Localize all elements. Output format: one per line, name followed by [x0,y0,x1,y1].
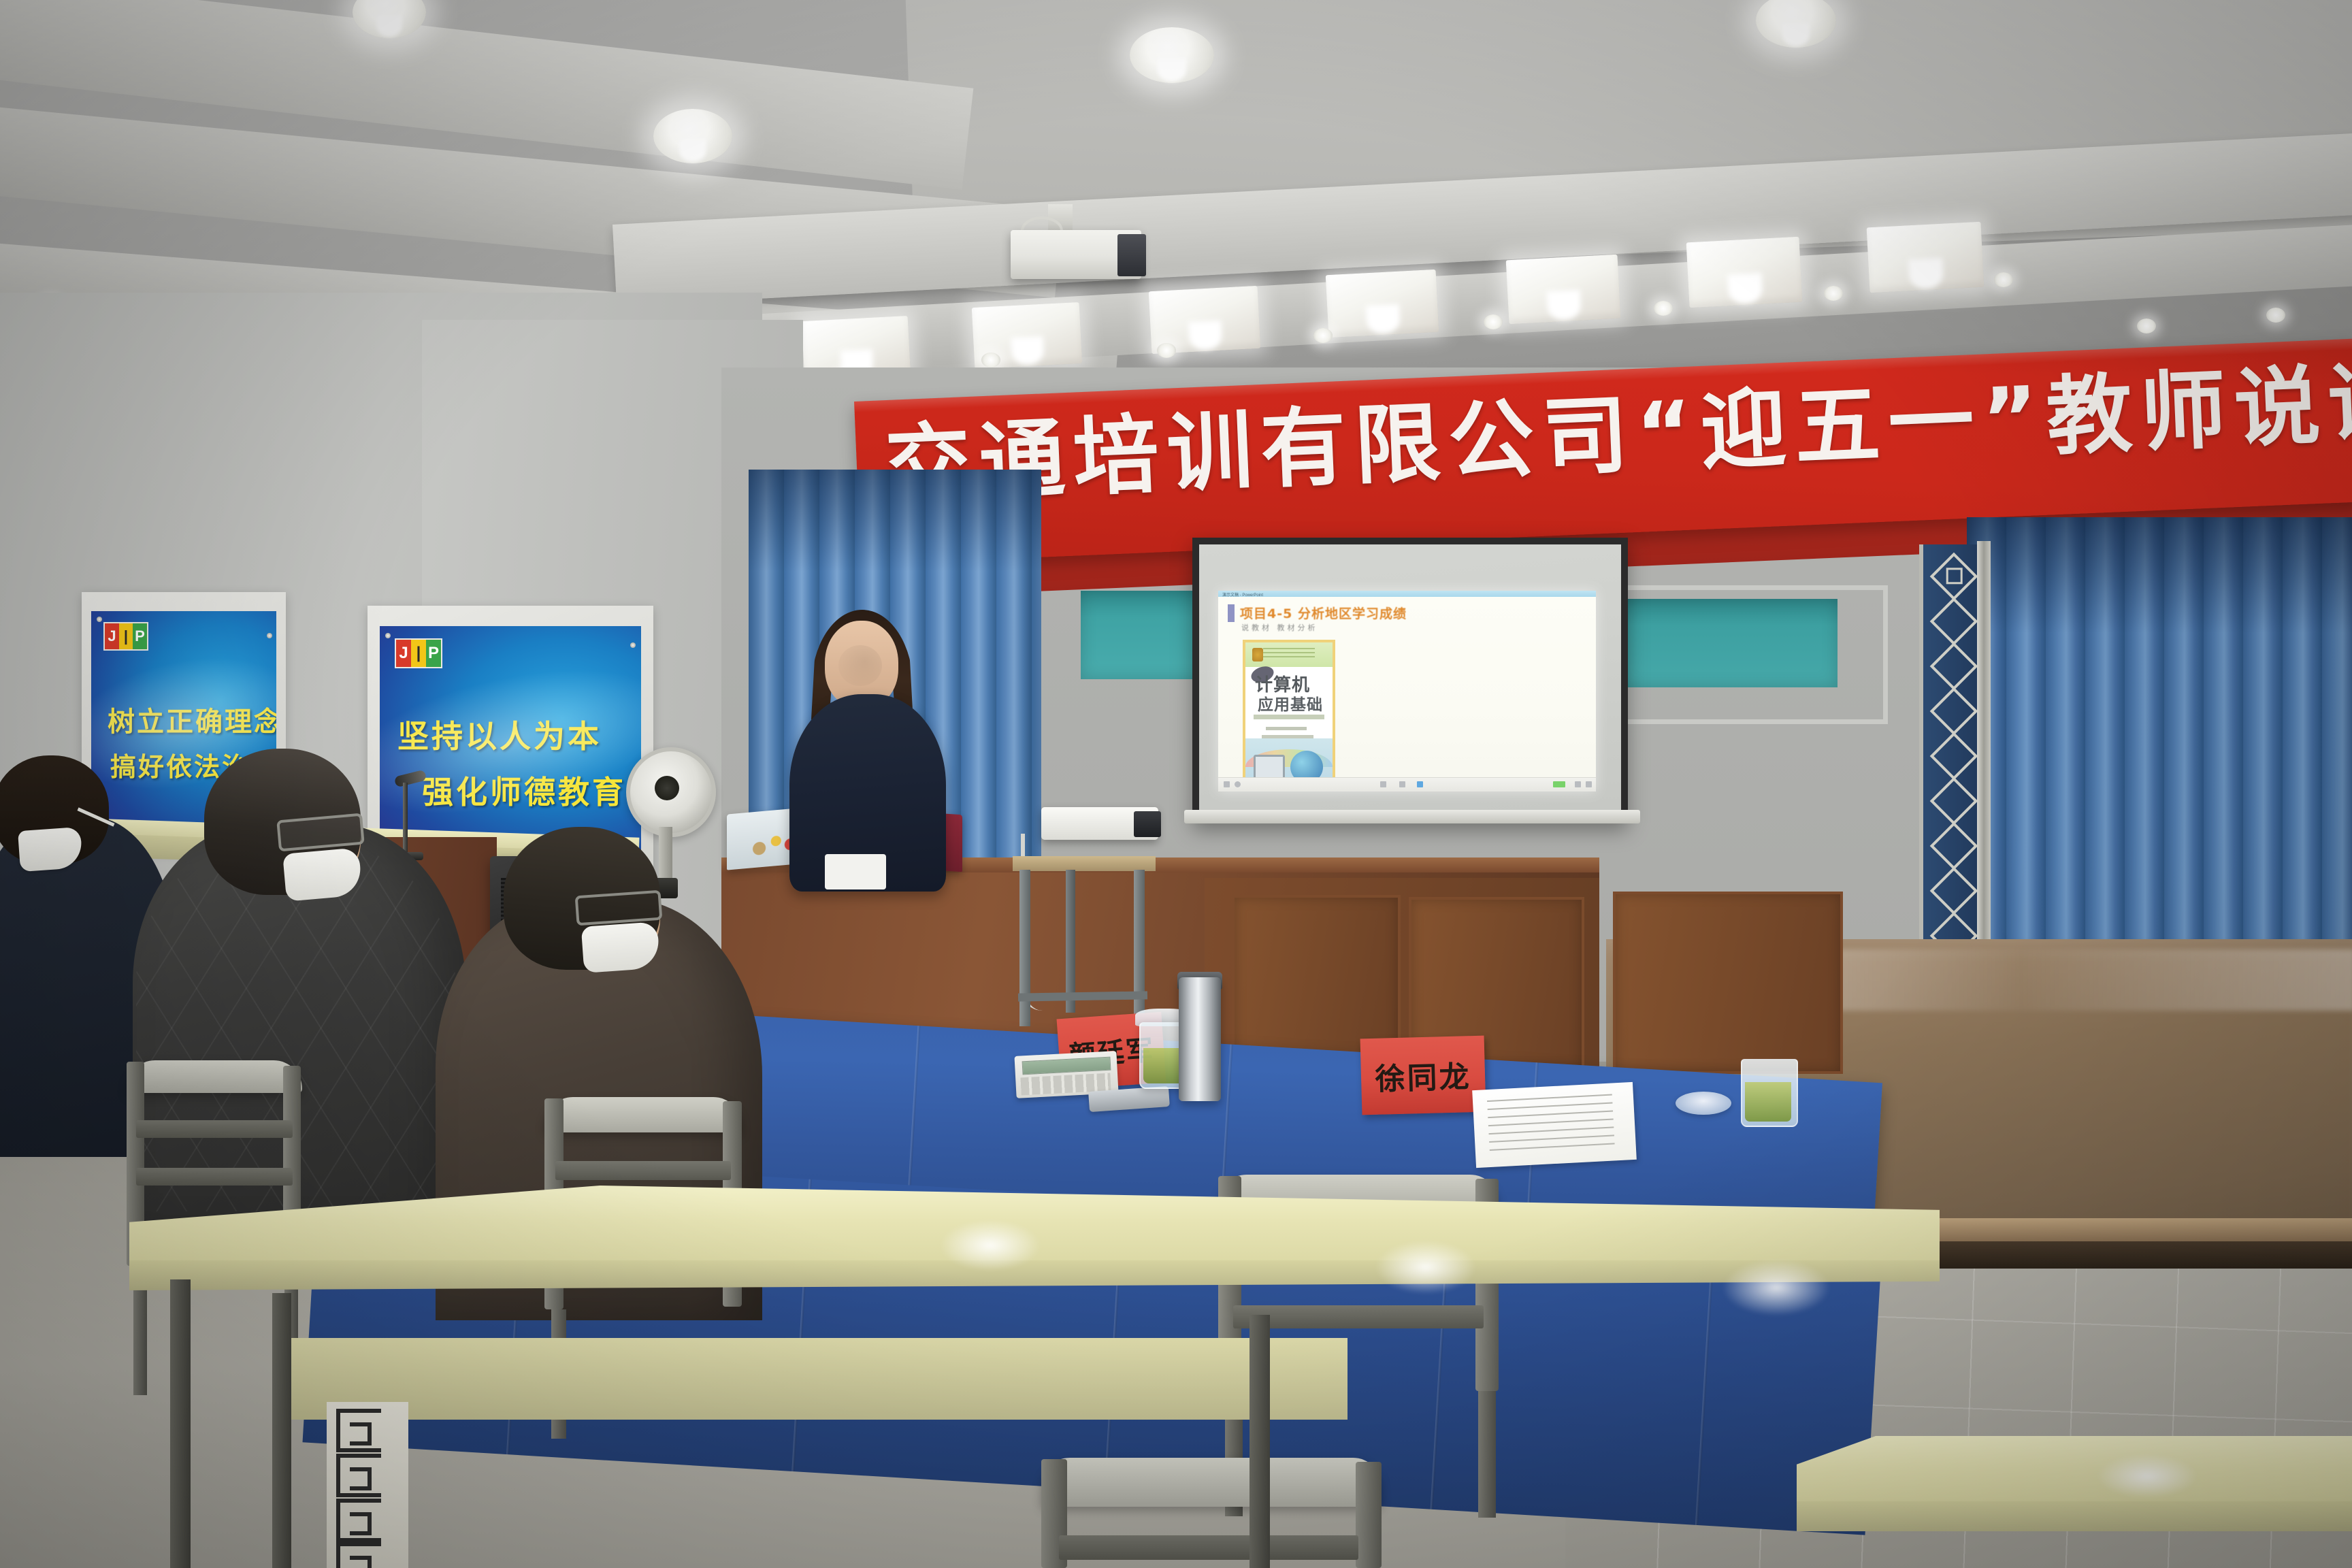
projection-screen-rail [1184,810,1640,823]
wall-sign-2-panel: J | P 坚持以人为本 强化师德教育 [380,626,641,857]
downlight [1994,272,2013,287]
book-title-line2: 应用基础 [1258,691,1323,715]
thermos-flask [1179,977,1221,1101]
box-light [1506,255,1621,324]
jp-logo-icon: J | P [103,622,148,651]
chalkboard-panel-right [1620,599,1837,687]
downlight [1157,343,1176,358]
book-header-band [1245,642,1333,667]
downlight [2266,308,2285,323]
stool-leg [1019,870,1030,1026]
scoring-sheet[interactable] [1472,1082,1637,1168]
desk-highlight [1375,1240,1477,1294]
dome-light [1130,27,1214,83]
fan-hub-icon [655,776,679,800]
tea-leaves [1745,1082,1791,1122]
presenter-face [838,645,882,686]
stage-wood-panel [1613,892,1843,1074]
projector-lens-icon [1134,811,1161,837]
slide-taskbar [1218,777,1596,791]
box-light [1326,269,1439,338]
box-light [1686,237,1803,308]
wall-sign-1-line1: 树立正确理念 [108,700,276,739]
downlight [981,353,1000,367]
desk-highlight [2096,1454,2198,1499]
slide-subtitle: 说教材 教材分析 [1241,622,1318,633]
fan-neck [659,827,672,881]
book-seal-icon [1252,648,1263,661]
curtain-shadow [749,470,1041,572]
curtain-shadow [1967,517,2352,633]
name-card-2-text: 徐同龙 [1375,1052,1472,1098]
desk-highlight [1722,1259,1831,1316]
slide-window-title: 演示文稿 - PowerPoint [1222,591,1263,598]
wall-sign-2-line1: 坚持以人为本 [397,712,602,757]
downlight [1824,286,1843,301]
slide-title: 项目4-5 分析地区学习成绩 [1240,604,1407,622]
desk-leg [170,1279,191,1568]
book-author-line [1266,727,1307,730]
projector-lens-icon [1117,234,1146,276]
microphone-stand [403,783,408,857]
desk-decorative-panel [327,1402,408,1568]
projected-slide: 演示文稿 - PowerPoint 项目4-5 分析地区学习成绩 说教材 教材分… [1218,591,1596,791]
downlight [1654,301,1673,316]
desk-leg [272,1293,291,1568]
projector-stool-top [1013,856,1156,871]
stool-leg [1066,870,1075,1013]
stool-leg [1134,870,1145,1024]
student-desk-edge [1797,1501,2352,1531]
jp-logo-icon: J | P [395,638,442,668]
wall-sign-2-line2: 强化师德教育 [422,768,626,813]
lattice-post [1977,541,1991,1004]
student-desk-top [1797,1436,2352,1511]
downlight [1484,314,1503,329]
presenter-shirt [825,854,886,889]
desk-highlight [939,1220,1041,1271]
book-subtitle-bar [1254,715,1324,719]
glass-ashtray [1676,1092,1731,1115]
name-card-2: 徐同龙 [1360,1036,1486,1115]
student-desk-shelf [286,1338,1347,1420]
dome-light [653,109,732,163]
textbook-cover-image: 计算机 应用基础 [1243,640,1335,790]
downlight [2137,318,2156,333]
downlight [1313,328,1333,343]
slide-window-titlebar: 演示文稿 - PowerPoint [1218,591,1596,597]
tea-leaves [1143,1048,1184,1083]
box-light [1867,222,1984,293]
slide-accent-bar [1228,604,1235,622]
desk-leg [1249,1315,1270,1568]
scene-root: 交通培训有限公司“迎五一”教师说课比赛 演示文稿 - PowerPoint 项目… [0,0,2352,1568]
eyeglasses-icon [575,890,663,926]
